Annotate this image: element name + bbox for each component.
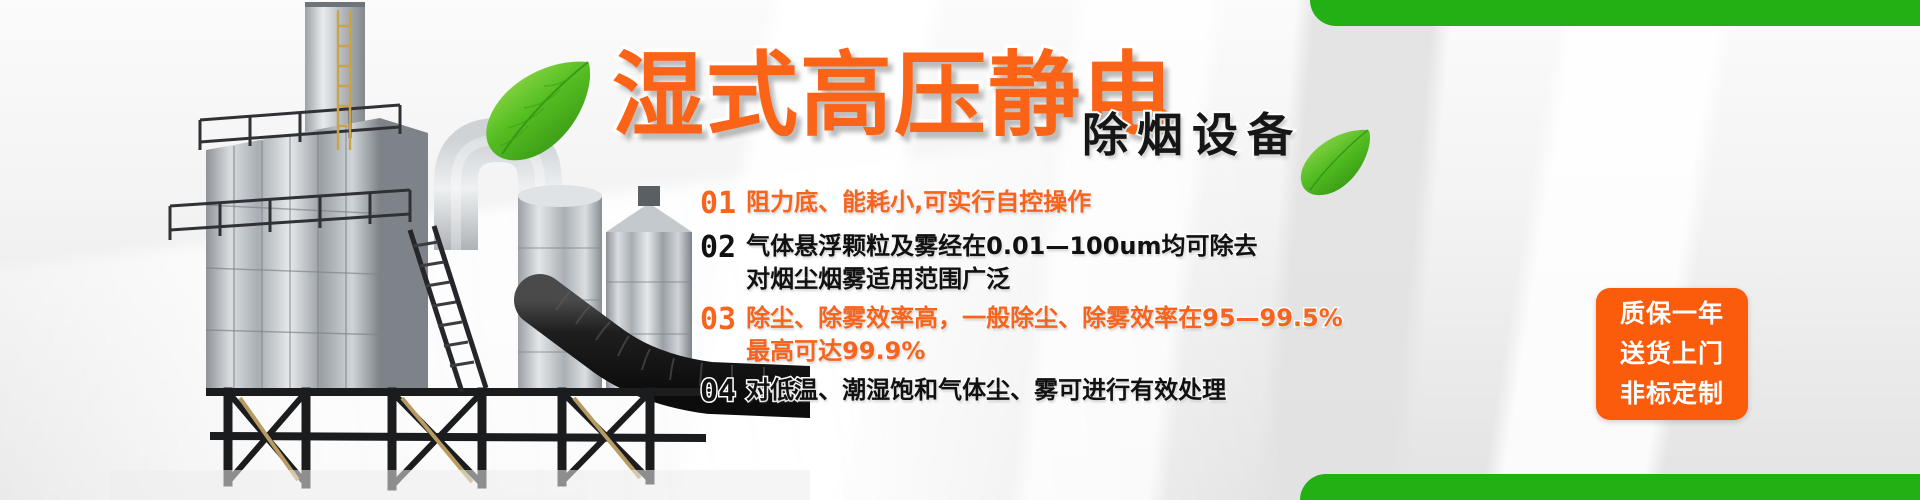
feature-number: 04	[700, 374, 736, 410]
guarantee-badge: 质保一年 送货上门 非标定制	[1596, 288, 1748, 420]
green-accent-bar-bottom	[1300, 474, 1920, 500]
badge-line-warranty: 质保一年	[1620, 294, 1724, 334]
feature-text-line1: 阻力底、能耗小,可实行自控操作	[746, 188, 1091, 216]
feature-text-line1: 除尘、除雾效率高，一般除尘、除雾效率在95—99.5%	[746, 304, 1343, 332]
feature-text-line2: 对烟尘烟雾适用范围广泛	[746, 263, 1257, 296]
feature-list: 01 阻力底、能耗小,可实行自控操作 02 气体悬浮颗粒及雾经在0.01—100…	[700, 186, 1560, 412]
feature-text: 除尘、除雾效率高，一般除尘、除雾效率在95—99.5% 最高可达99.9%	[746, 302, 1343, 368]
leaf-decoration-large	[478, 56, 598, 166]
badge-line-custom: 非标定制	[1620, 374, 1724, 414]
feature-text: 气体悬浮颗粒及雾经在0.01—100um均可除去 对烟尘烟雾适用范围广泛	[746, 230, 1257, 296]
feature-number: 01	[700, 186, 736, 222]
green-accent-bar-top	[1310, 0, 1920, 26]
feature-item-02: 02 气体悬浮颗粒及雾经在0.01—100um均可除去 对烟尘烟雾适用范围广泛	[700, 230, 1560, 296]
feature-item-04: 04 对低温、潮湿饱和气体尘、雾可进行有效处理	[700, 374, 1560, 410]
feature-number: 03	[700, 302, 736, 338]
promotional-banner: 湿式高压静电 除烟设备 01 阻力底、能耗小,可实行自控操作 02 气体悬浮颗粒…	[0, 0, 1920, 500]
feature-item-03: 03 除尘、除雾效率高，一般除尘、除雾效率在95—99.5% 最高可达99.9%	[700, 302, 1560, 368]
feature-number: 02	[700, 230, 736, 266]
feature-text-line1: 对低温、潮湿饱和气体尘、雾可进行有效处理	[746, 376, 1226, 404]
feature-text-line2: 最高可达99.9%	[746, 335, 1343, 368]
feature-text: 阻力底、能耗小,可实行自控操作	[746, 186, 1091, 219]
feature-text-line1: 气体悬浮颗粒及雾经在0.01—100um均可除去	[746, 232, 1257, 260]
badge-line-delivery: 送货上门	[1620, 334, 1724, 374]
feature-text: 对低温、潮湿饱和气体尘、雾可进行有效处理	[746, 374, 1226, 407]
page-subtitle: 除烟设备	[1082, 112, 1302, 158]
feature-item-01: 01 阻力底、能耗小,可实行自控操作	[700, 186, 1560, 222]
